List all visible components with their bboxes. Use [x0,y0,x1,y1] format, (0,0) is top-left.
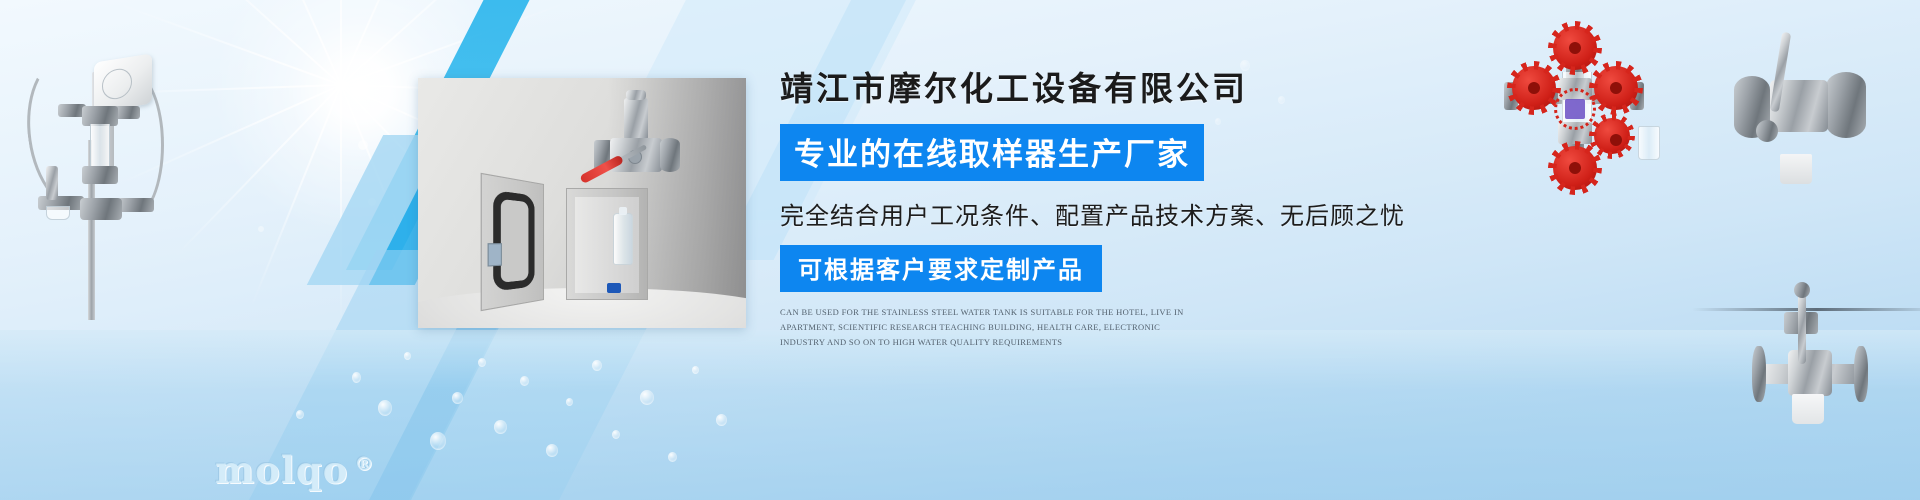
left-product-image [10,20,170,320]
tagline-badge: 可根据客户要求定制产品 [780,245,1102,292]
right-top-product-image [1490,30,1680,170]
red-handwheel-icon [1553,146,1597,190]
headline-badge: 专业的在线取样器生产厂家 [780,124,1204,181]
valve-stack [624,98,648,140]
company-name: 靖江市摩尔化工设备有限公司 [780,70,1420,111]
subheadline: 完全结合用户工况条件、配置产品技术方案、无后顾之忧 [780,196,1420,231]
valve-flange [1854,346,1868,402]
sample-bottle [613,213,633,265]
shelf-line [1692,308,1920,311]
valve-body [82,166,118,184]
valve-flange [1752,346,1766,402]
red-handwheel-icon [1594,118,1630,154]
sample-cup [1780,154,1812,184]
watermark-text: molqo [215,448,348,492]
stem-knob [1794,282,1810,298]
valve-body [1788,350,1832,396]
valve-body [80,198,122,220]
english-description: CAN BE USED FOR THE STAINLESS STEEL WATE… [780,305,1190,350]
promotional-banner: 靖江市摩尔化工设备有限公司 专业的在线取样器生产厂家 完全结合用户工况条件、配置… [0,0,1920,500]
sampling-valve-assembly [588,92,684,192]
sample-bottle [1638,126,1660,160]
banner-copy: 靖江市摩尔化工设备有限公司 专业的在线取样器生产厂家 完全结合用户工况条件、配置… [780,70,1420,350]
valve-stem [1798,292,1806,364]
valve-flange [660,138,680,172]
company-seal-logo [1554,88,1596,130]
cabinet-door [481,173,544,312]
registered-trademark-icon: ® [354,453,374,475]
enclosure-box [94,53,152,112]
sight-glass [90,124,110,168]
valve-body [82,106,118,126]
valve-flange [1826,72,1866,138]
right-bottom-product-image [1740,278,1910,448]
red-handwheel-icon [1512,66,1556,110]
right-far-product-image [1718,28,1908,198]
sample-cup [46,206,70,220]
seal-mark-icon [1565,99,1585,119]
sampler-cabinet [566,188,648,300]
valve-knob [626,90,646,100]
blue-cap [607,283,621,293]
sample-cup [1792,394,1824,424]
door-lock [488,243,502,267]
packing-nut [1756,120,1778,142]
relief-valve [46,166,58,200]
photo-background [418,78,746,328]
red-handwheel-icon [1553,26,1597,70]
door-window [493,190,534,292]
watermark-logo: molqo® [215,448,374,492]
center-product-photo [418,78,746,328]
red-handwheel-icon [1594,66,1638,110]
valve-arm [118,198,154,212]
